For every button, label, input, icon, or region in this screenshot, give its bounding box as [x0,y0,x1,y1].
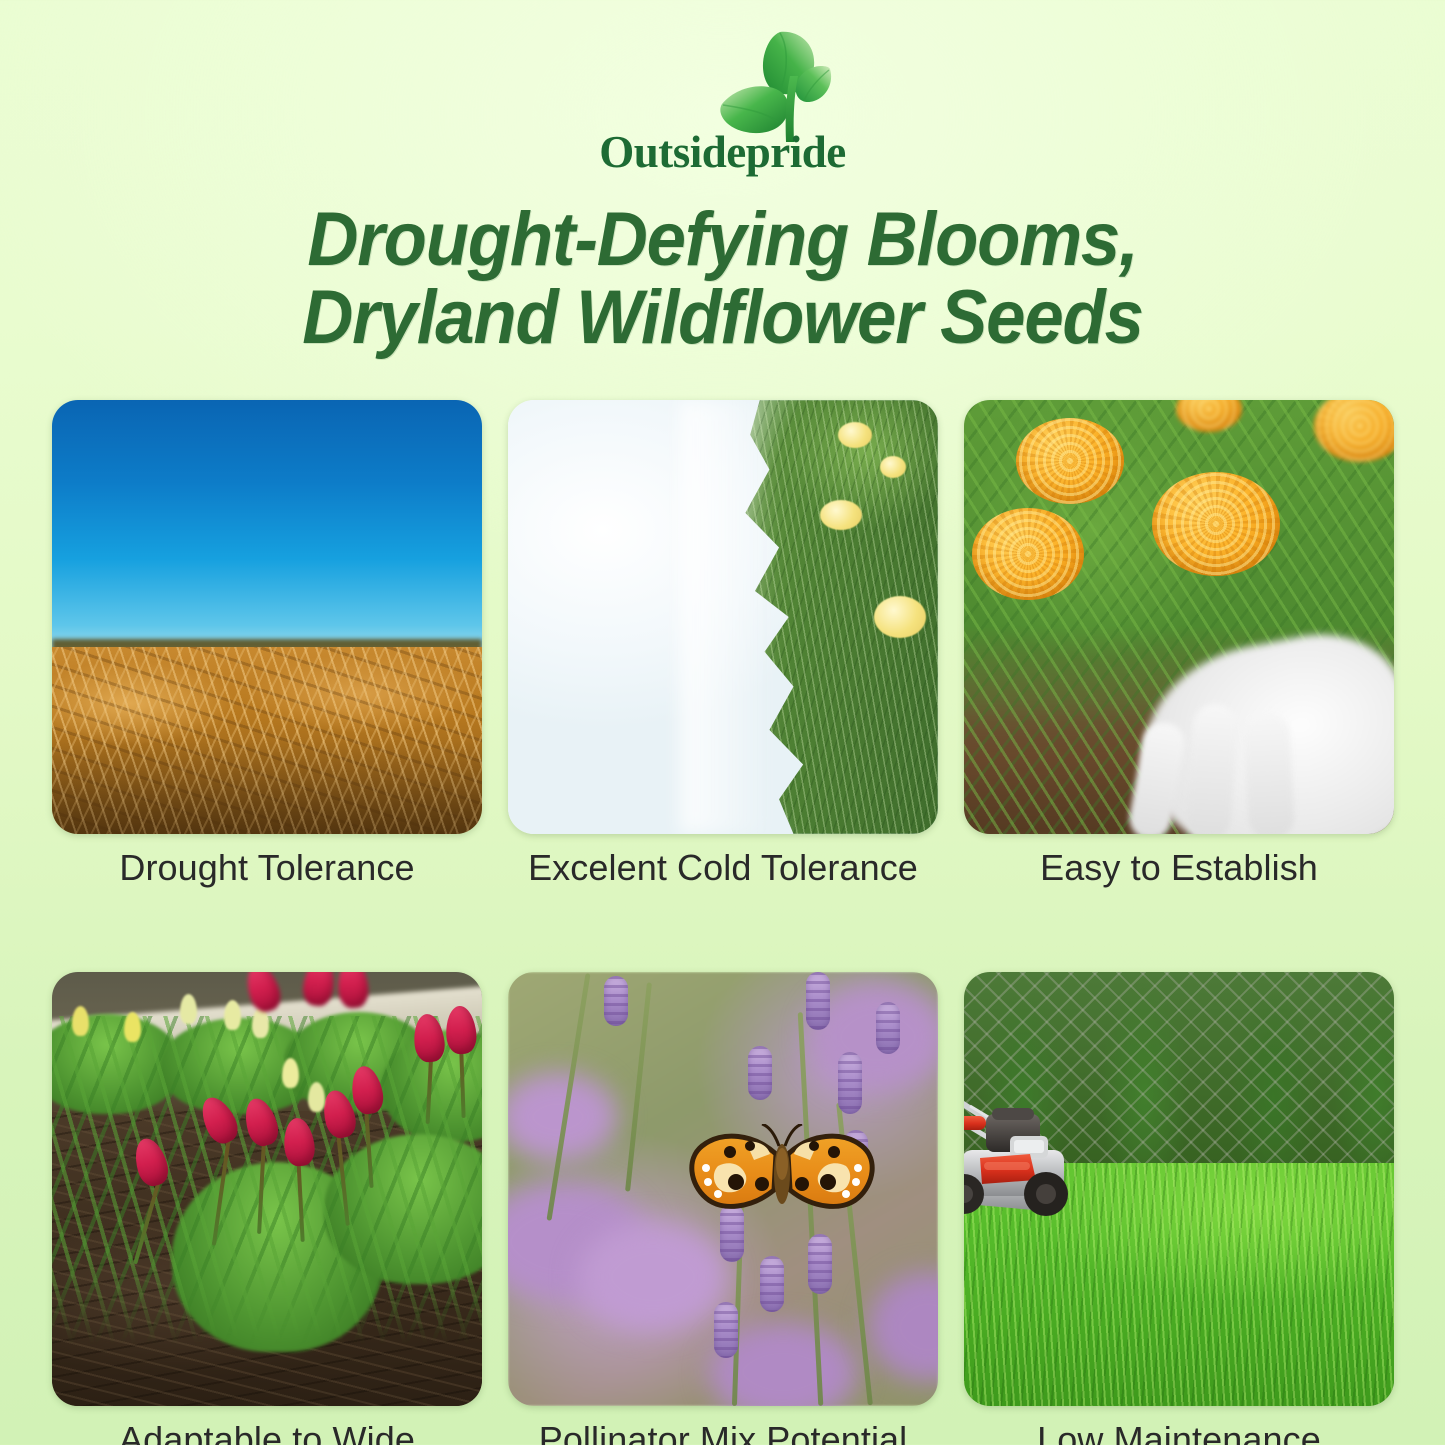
lavender-spike [604,976,628,1026]
brand-wordmark: Outsidepride [558,130,888,175]
feature-card-adaptable-soil[interactable]: Adaptable to Wide Range of Soil [52,972,482,1445]
marigold-bloom [1016,418,1124,504]
caption-line-1: Pollinator Mix Potential [539,1419,908,1445]
tulip-bud [252,1008,269,1038]
feature-card-drought-tolerance[interactable]: Drought Tolerance [52,400,482,889]
headline-line-2: Dryland Wildflower Seeds [51,279,1395,357]
brand-logo[interactable]: Outsidepride [558,22,888,182]
lavender-spike [760,1256,784,1312]
caption-line-1: Drought Tolerance [119,847,414,888]
marigold-planting-photo [964,400,1394,834]
snow-and-grass-photo [508,400,938,834]
blurred-lavender [578,1222,728,1332]
drought-landscape-photo [52,400,482,834]
sky-layer [52,400,482,656]
lawn-mower-photo [964,972,1394,1406]
header: Outsidepride Drought-Defying Blooms, Dry… [0,0,1445,358]
tulip-bud [124,1012,141,1042]
feature-caption: Adaptable to Wide Range of Soil [52,1419,482,1445]
lavender-spike [714,1302,738,1358]
feature-caption: Excelent Cold Tolerance [508,847,938,889]
lawn-mower-icon [964,1092,1182,1227]
lavender-spike [806,972,830,1030]
tulip-bud [72,1006,89,1036]
lavender-spike [876,1002,900,1054]
butterfly-on-lavender-photo [508,972,938,1406]
tulip-bud [224,1000,241,1030]
tulip-bud [180,994,197,1024]
feature-card-low-maintenance[interactable]: Low Maintenance [964,972,1394,1445]
feature-caption: Drought Tolerance [52,847,482,889]
feature-caption: Pollinator Mix Potential [508,1419,938,1445]
feature-caption: Low Maintenance [964,1419,1394,1445]
yellow-flower-icon [880,456,906,478]
glove-finger [1243,711,1296,834]
caption-line-1: Adaptable to Wide [119,1419,415,1445]
tulip-bud [308,1082,325,1112]
marigold-bloom [972,508,1084,600]
yellow-flower-icon [838,422,872,448]
butterfly-icon [684,1124,880,1224]
feature-caption: Easy to Establish [964,847,1394,889]
glove-finger [1185,703,1238,834]
tulips-in-soil-photo [52,972,482,1406]
caption-line-1: Easy to Establish [1040,847,1318,888]
foreground-shadow [52,739,482,834]
leaf-texture [52,1016,482,1355]
lavender-spike [748,1046,772,1100]
feature-card-pollinator-mix[interactable]: Pollinator Mix Potential [508,972,938,1445]
snow-edge-blur [680,400,775,834]
page-title: Drought-Defying Blooms, Dryland Wildflow… [51,201,1395,358]
tulip-bud [282,1058,299,1088]
caption-line-1: Excelent Cold Tolerance [528,847,918,888]
sprout-leaves-icon [706,24,836,142]
feature-grid: Drought Tolerance Excelent Cold Toleranc… [52,400,1397,1445]
yellow-flower-icon [874,596,926,638]
yellow-flower-icon [820,500,862,530]
feature-card-easy-to-establish[interactable]: Easy to Establish [964,400,1394,889]
lavender-spike [808,1234,832,1294]
caption-line-1: Low Maintenance [1037,1419,1321,1445]
marigold-bloom [1152,472,1280,576]
headline-line-1: Drought-Defying Blooms, [51,201,1395,279]
lavender-spike [838,1052,862,1114]
feature-card-cold-tolerance[interactable]: Excelent Cold Tolerance [508,400,938,889]
